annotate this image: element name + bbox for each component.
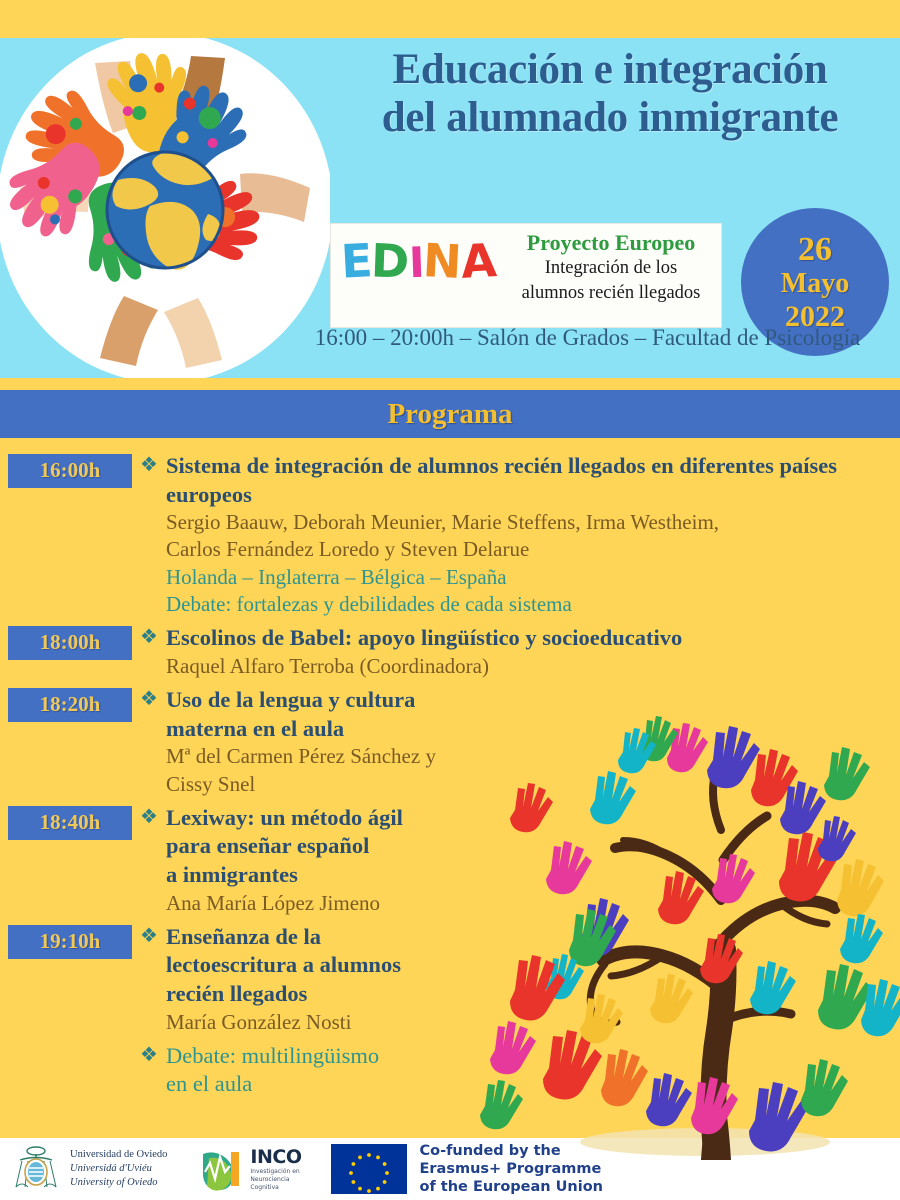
entry-speakers: Sergio Baauw, Deborah Meunier, Marie Ste… [166,509,886,564]
time-badge: 18:00h [8,626,132,660]
program-entry: 18:20h ❖ Uso de la lengua y cultura mate… [0,686,900,798]
programa-header-band: Programa [0,390,900,438]
oviedo-line-1: Universidad de Oviedo [70,1148,167,1162]
entry-extra-line: Debate: fortalezas y debilidades de cada… [166,591,886,618]
time-column: 18:20h [0,686,140,722]
edina-logo-box: EDINA Proyecto Europeo Integración de lo… [330,223,722,328]
venue-line: 16:00 – 20:00h – Salón de Grados – Facul… [280,325,895,351]
oviedo-crest-icon [10,1144,62,1194]
diamond-bullet-icon: ❖ [140,624,166,650]
time-column: 19:10h [0,923,140,959]
diamond-bullet-icon: ❖ [140,804,166,830]
entry-title: Uso de la lengua y cultura materna en el… [166,686,415,743]
diamond-bullet-icon: ❖ [140,1042,166,1068]
time-column: 16:00h [0,452,140,488]
entry-extra-line: Holanda – Inglaterra – Bélgica – España [166,564,886,591]
entry-title: Lexiway: un método ágil para enseñar esp… [166,804,403,890]
inco-sub-line-2: Neurociencia [250,1176,301,1184]
entry-title: Debate: multilingüismo en el aula [166,1042,379,1099]
erasmus-funding-logo: Co-funded by the Erasmus+ Programme of t… [331,1142,603,1196]
entry-title: Enseñanza de la lectoescritura a alumnos… [166,923,401,1009]
inco-sub-line-1: Investigación en [250,1168,301,1176]
entry-speakers: Raquel Alfaro Terroba (Coordinadora) [166,653,886,680]
diamond-bullet-icon: ❖ [140,686,166,712]
oviedo-line-2: Universidá d'Uviéu [70,1162,167,1176]
entry-body: ❖ Debate: multilingüismo en el aula [140,1042,900,1099]
inco-logo: INCO Investigación en Neurociencia Cogni… [199,1146,301,1192]
time-column: 18:40h [0,804,140,840]
title-line-2: del alumnado inmigrante [330,94,890,142]
edina-letter-a: A [460,237,497,285]
time-badge: 18:40h [8,806,132,840]
diamond-bullet-icon: ❖ [140,923,166,949]
oviedo-line-3: University of Oviedo [70,1176,167,1190]
entry-body: ❖ Sistema de integración de alumnos reci… [140,452,900,618]
program-entry: 19:10h ❖ Enseñanza de la lectoescritura … [0,923,900,1036]
time-badge: 19:10h [8,925,132,959]
band-divider [0,378,900,390]
footer-logos: Universidad de Oviedo Universidá d'Uviéu… [0,1138,900,1200]
program-list: 16:00h ❖ Sistema de integración de alumn… [0,452,900,1142]
erasmus-line-2: Erasmus+ Programme [419,1160,603,1178]
entry-title: Sistema de integración de alumnos recién… [166,452,886,509]
entry-body: ❖ Enseñanza de la lectoescritura a alumn… [140,923,900,1036]
entry-body: ❖ Lexiway: un método ágil para enseñar e… [140,804,900,917]
program-entry-debate: ❖ Debate: multilingüismo en el aula [0,1042,900,1099]
edina-letter-d: D [371,237,410,284]
entry-title: Escolinos de Babel: apoyo lingüístico y … [166,624,682,653]
edina-subtitle-line-1: Integración de los [506,257,716,280]
inco-text-block: INCO Investigación en Neurociencia Cogni… [250,1146,301,1191]
entry-speakers: Ana María López Jimeno [166,890,521,917]
program-entry: 16:00h ❖ Sistema de integración de alumn… [0,452,900,618]
erasmus-line-3: of the European Union [419,1178,603,1196]
time-badge: 18:20h [8,688,132,722]
edina-description: Proyecto Europeo Integración de los alum… [506,230,716,306]
title-line-1: Educación e integración [330,46,890,94]
page-title: Educación e integración del alumnado inm… [330,46,890,142]
entry-speakers: Mª del Carmen Pérez Sánchez y Cissy Snel [166,743,521,798]
edina-letter-e: E [340,237,373,285]
date-month: Mayo [781,269,849,300]
oviedo-name-lines: Universidad de Oviedo Universidá d'Uviéu… [70,1148,167,1191]
programa-heading: Programa [387,398,512,431]
program-entry: 18:40h ❖ Lexiway: un método ágil para en… [0,804,900,917]
edina-letter-n: N [422,237,462,285]
program-entry: 18:00h ❖ Escolinos de Babel: apoyo lingü… [0,624,900,680]
diamond-bullet-icon: ❖ [140,452,166,478]
inco-sub-line-3: Cognitiva [250,1184,301,1192]
edina-wordmark: EDINA [341,238,495,284]
inco-mark-icon [199,1146,245,1192]
date-day: 26 [798,231,832,268]
erasmus-text-block: Co-funded by the Erasmus+ Programme of t… [419,1142,603,1196]
entry-body: ❖ Escolinos de Babel: apoyo lingüístico … [140,624,900,680]
time-column: 18:00h [0,624,140,660]
time-column [0,1042,140,1044]
erasmus-line-1: Co-funded by the [419,1142,603,1160]
edina-project-label: Proyecto Europeo [506,230,716,255]
university-of-oviedo-logo: Universidad de Oviedo Universidá d'Uviéu… [10,1144,167,1194]
entry-speakers: María González Nosti [166,1009,521,1036]
inco-name: INCO [250,1146,301,1168]
time-badge: 16:00h [8,454,132,488]
entry-body: ❖ Uso de la lengua y cultura materna en … [140,686,900,798]
eu-flag-icon [331,1144,407,1194]
edina-subtitle-line-2: alumnos recién llegados [506,282,716,305]
poster-root: Educación e integración del alumnado inm… [0,0,900,1200]
